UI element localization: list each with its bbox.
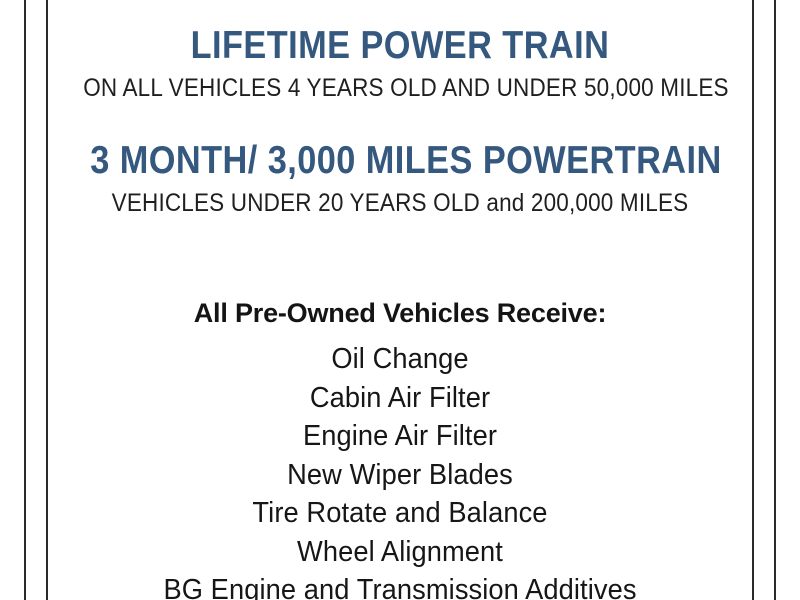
border-rule-right-outer <box>774 0 776 600</box>
services-section-title: All Pre-Owned Vehicles Receive: <box>48 300 752 327</box>
three-month-powertrain-headline: 3 MONTH/ 3,000 MILES POWERTRAIN <box>90 141 710 181</box>
services-list: Oil Change Cabin Air Filter Engine Air F… <box>48 340 752 600</box>
warranty-block-three-month: 3 MONTH/ 3,000 MILES POWERTRAIN VEHICLES… <box>48 141 752 216</box>
flyer-content: LIFETIME POWER TRAIN ON ALL VEHICLES 4 Y… <box>48 0 752 600</box>
border-rule-right-inner <box>752 0 754 600</box>
list-item: New Wiper Blades <box>69 456 731 495</box>
list-item: Oil Change <box>69 340 731 379</box>
lifetime-powertrain-headline: LIFETIME POWER TRAIN <box>90 26 710 66</box>
list-item: Wheel Alignment <box>69 533 731 572</box>
lifetime-powertrain-subhead: ON ALL VEHICLES 4 YEARS OLD AND UNDER 50… <box>83 75 717 101</box>
list-item: Tire Rotate and Balance <box>69 494 731 533</box>
warranty-block-lifetime: LIFETIME POWER TRAIN ON ALL VEHICLES 4 Y… <box>48 26 752 101</box>
border-rule-left-outer <box>24 0 26 600</box>
list-item: BG Engine and Transmission Additives <box>69 571 731 600</box>
services-section: All Pre-Owned Vehicles Receive: Oil Chan… <box>48 300 752 600</box>
three-month-powertrain-subhead: VEHICLES UNDER 20 YEARS OLD and 200,000 … <box>83 190 717 216</box>
warranty-flyer: LIFETIME POWER TRAIN ON ALL VEHICLES 4 Y… <box>0 0 800 600</box>
list-item: Cabin Air Filter <box>69 379 731 418</box>
list-item: Engine Air Filter <box>69 417 731 456</box>
